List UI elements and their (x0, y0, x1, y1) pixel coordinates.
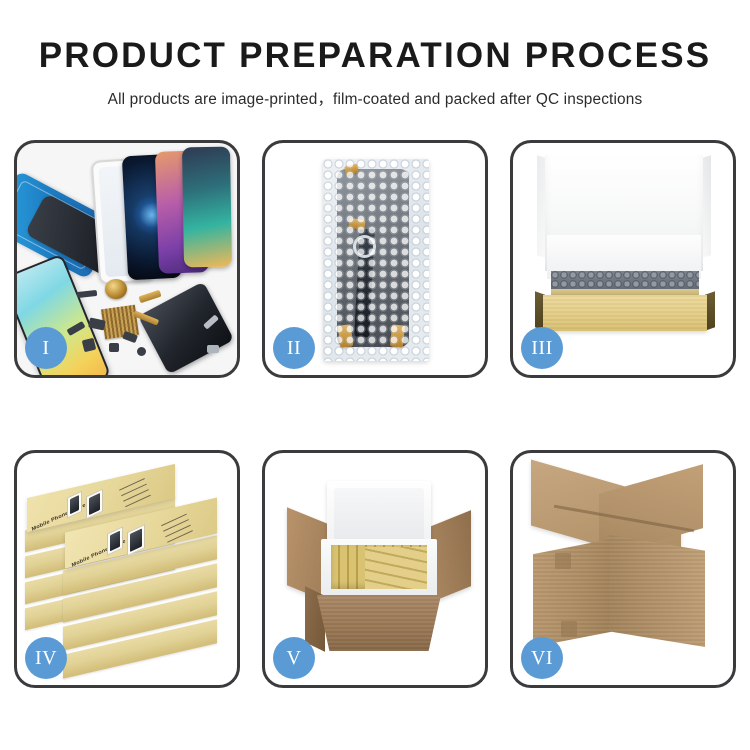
process-step-panel-1: I (14, 140, 240, 378)
kraft-texture (543, 295, 707, 331)
packed-retail-boxes (365, 547, 427, 589)
step-badge-2: II (273, 327, 315, 369)
bubble-wrap-overlay (323, 159, 429, 361)
page-title: PRODUCT PREPARATION PROCESS (0, 38, 750, 75)
page-subtitle: All products are image-printed，film-coat… (0, 87, 750, 109)
step-badge-5: V (273, 637, 315, 679)
spare-part-chip (109, 343, 119, 352)
kraft-box-front (543, 295, 707, 331)
carton-face-right (609, 535, 705, 647)
box-spec-line (161, 514, 187, 527)
foam-lid (327, 481, 431, 547)
carton-tape-patch (561, 621, 577, 637)
camera-lens-part (105, 279, 127, 299)
kraft-texture (317, 595, 441, 651)
carton-tape-patch (555, 553, 571, 569)
step-badge-6: VI (521, 637, 563, 679)
box-spec-line (123, 489, 149, 502)
phone-display-teal (182, 147, 232, 268)
process-step-panel-5: V (262, 450, 488, 688)
product-preparation-infographic: PRODUCT PREPARATION PROCESS All products… (0, 0, 750, 750)
box-window (86, 489, 103, 520)
box-spec-line (163, 519, 189, 532)
step-badge-3: III (521, 327, 563, 369)
spare-part-chip (137, 347, 146, 356)
box-spec-line (165, 525, 191, 538)
process-step-panel-4: Mobile Phone Spare Parts Mobile Phone Sp… (14, 450, 240, 688)
flex-cable-part (138, 290, 161, 303)
process-step-panel-6: VI (510, 450, 736, 688)
box-spec-line (121, 484, 147, 497)
spare-part-chip (77, 290, 98, 298)
process-step-grid: I II (14, 140, 736, 688)
kraft-texture (609, 535, 705, 647)
carton-front (317, 595, 441, 651)
header: PRODUCT PREPARATION PROCESS All products… (0, 0, 750, 109)
step-badge-1: I (25, 327, 67, 369)
box-window (67, 491, 82, 519)
step-badge-4: IV (25, 637, 67, 679)
box-spec-line (119, 478, 145, 491)
process-step-panel-2: II (262, 140, 488, 378)
screw-part (207, 345, 219, 353)
process-step-panel-3: III (510, 140, 736, 378)
box-window (107, 526, 123, 555)
